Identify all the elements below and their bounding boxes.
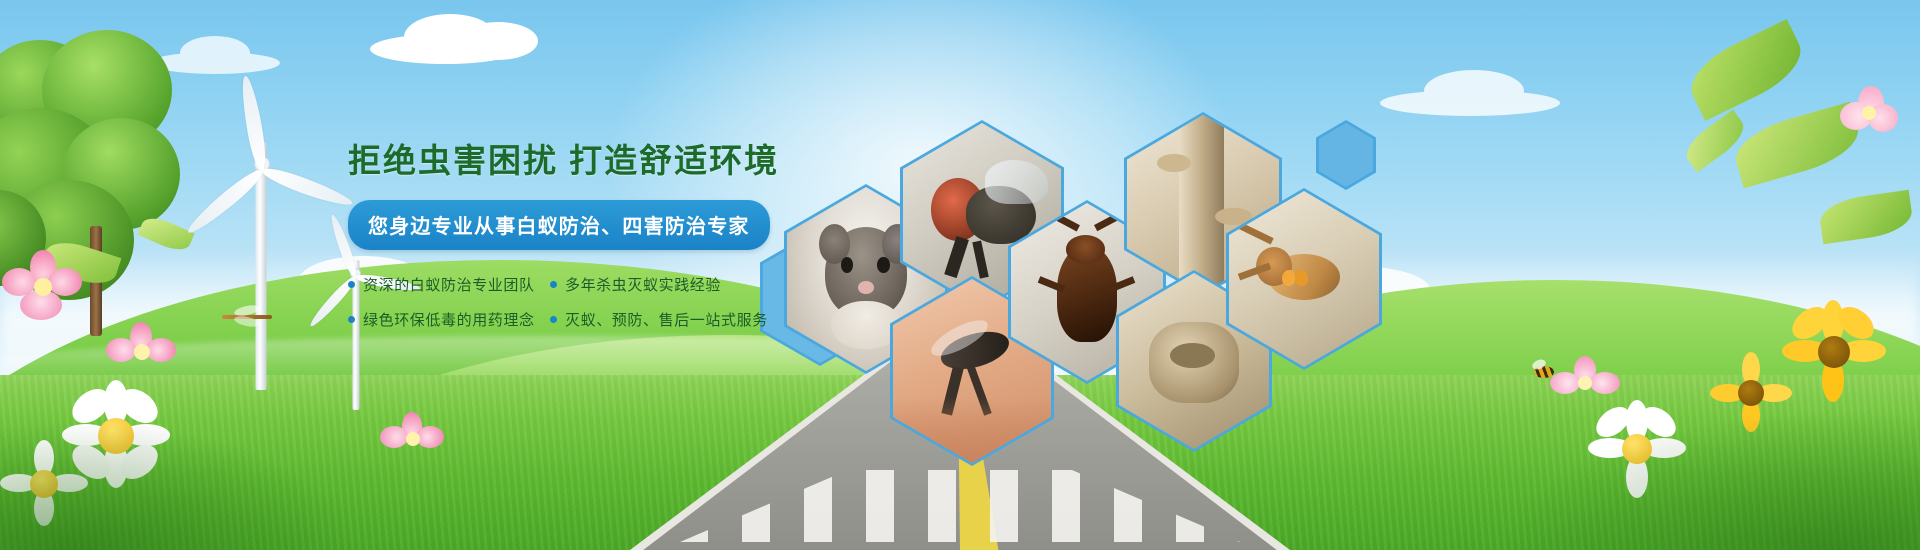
- flower-pink-mid: [380, 412, 444, 472]
- banner-subtitle-pill: 您身边专业从事白蚁防治、四害防治专家: [348, 200, 770, 250]
- butterfly-right: [1282, 268, 1308, 290]
- feature-item: 多年杀虫灭蚁实践经验: [550, 274, 788, 295]
- flower-pink-left-2: [106, 322, 178, 388]
- bullet-dot-icon: [348, 281, 355, 288]
- foreground-grass-right: [1500, 410, 1920, 550]
- feature-label: 绿色环保低毒的用药理念: [363, 309, 535, 330]
- flower-pink-left: [0, 250, 86, 326]
- feature-item: 灭蚁、预防、售后一站式服务: [550, 309, 788, 330]
- banner-text-block: 拒绝虫害困扰 打造舒适环境 您身边专业从事白蚁防治、四害防治专家 资深的白蚁防治…: [348, 140, 788, 330]
- feature-label: 多年杀虫灭蚁实践经验: [565, 274, 721, 295]
- pest-control-hero-banner: 拒绝虫害困扰 打造舒适环境 您身边专业从事白蚁防治、四害防治专家 资深的白蚁防治…: [0, 0, 1920, 550]
- feature-item: 绿色环保低毒的用药理念: [348, 309, 544, 330]
- foreground-grass-left: [0, 420, 360, 550]
- flower-yellow-right: [1780, 300, 1890, 410]
- windmill-blade: [259, 163, 354, 210]
- hex-outline-right: [1316, 120, 1376, 190]
- windmill-blade: [184, 165, 267, 238]
- bee-right: [1530, 362, 1560, 382]
- banner-feature-list: 资深的白蚁防治专业团队 多年杀虫灭蚁实践经验 绿色环保低毒的用药理念 灭蚁、预防…: [348, 274, 788, 330]
- feature-item: 资深的白蚁防治专业团队: [348, 274, 544, 295]
- bullet-dot-icon: [348, 316, 355, 323]
- bullet-dot-icon: [550, 316, 557, 323]
- dragonfly-left: [222, 306, 276, 328]
- banner-headline: 拒绝虫害困扰 打造舒适环境: [348, 140, 788, 181]
- pest-hexagon-cluster: [760, 110, 1380, 410]
- feature-label: 灭蚁、预防、售后一站式服务: [565, 309, 768, 330]
- blossom-top-right: [1840, 86, 1900, 144]
- feature-label: 资深的白蚁防治专业团队: [363, 274, 535, 295]
- bullet-dot-icon: [550, 281, 557, 288]
